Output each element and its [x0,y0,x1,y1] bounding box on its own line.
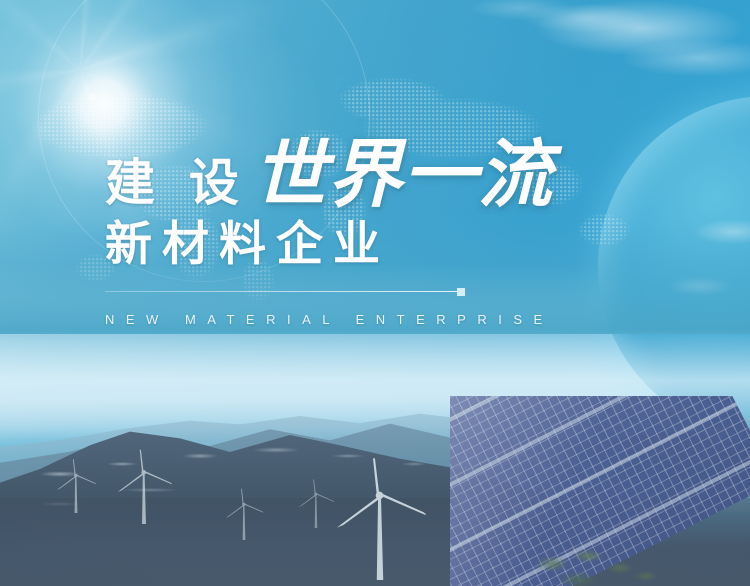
vignette-overlay [0,0,750,586]
hero-banner: 建 设 世界一流 新材料企业 NEW MATERIAL ENTERPRISE [0,0,750,586]
